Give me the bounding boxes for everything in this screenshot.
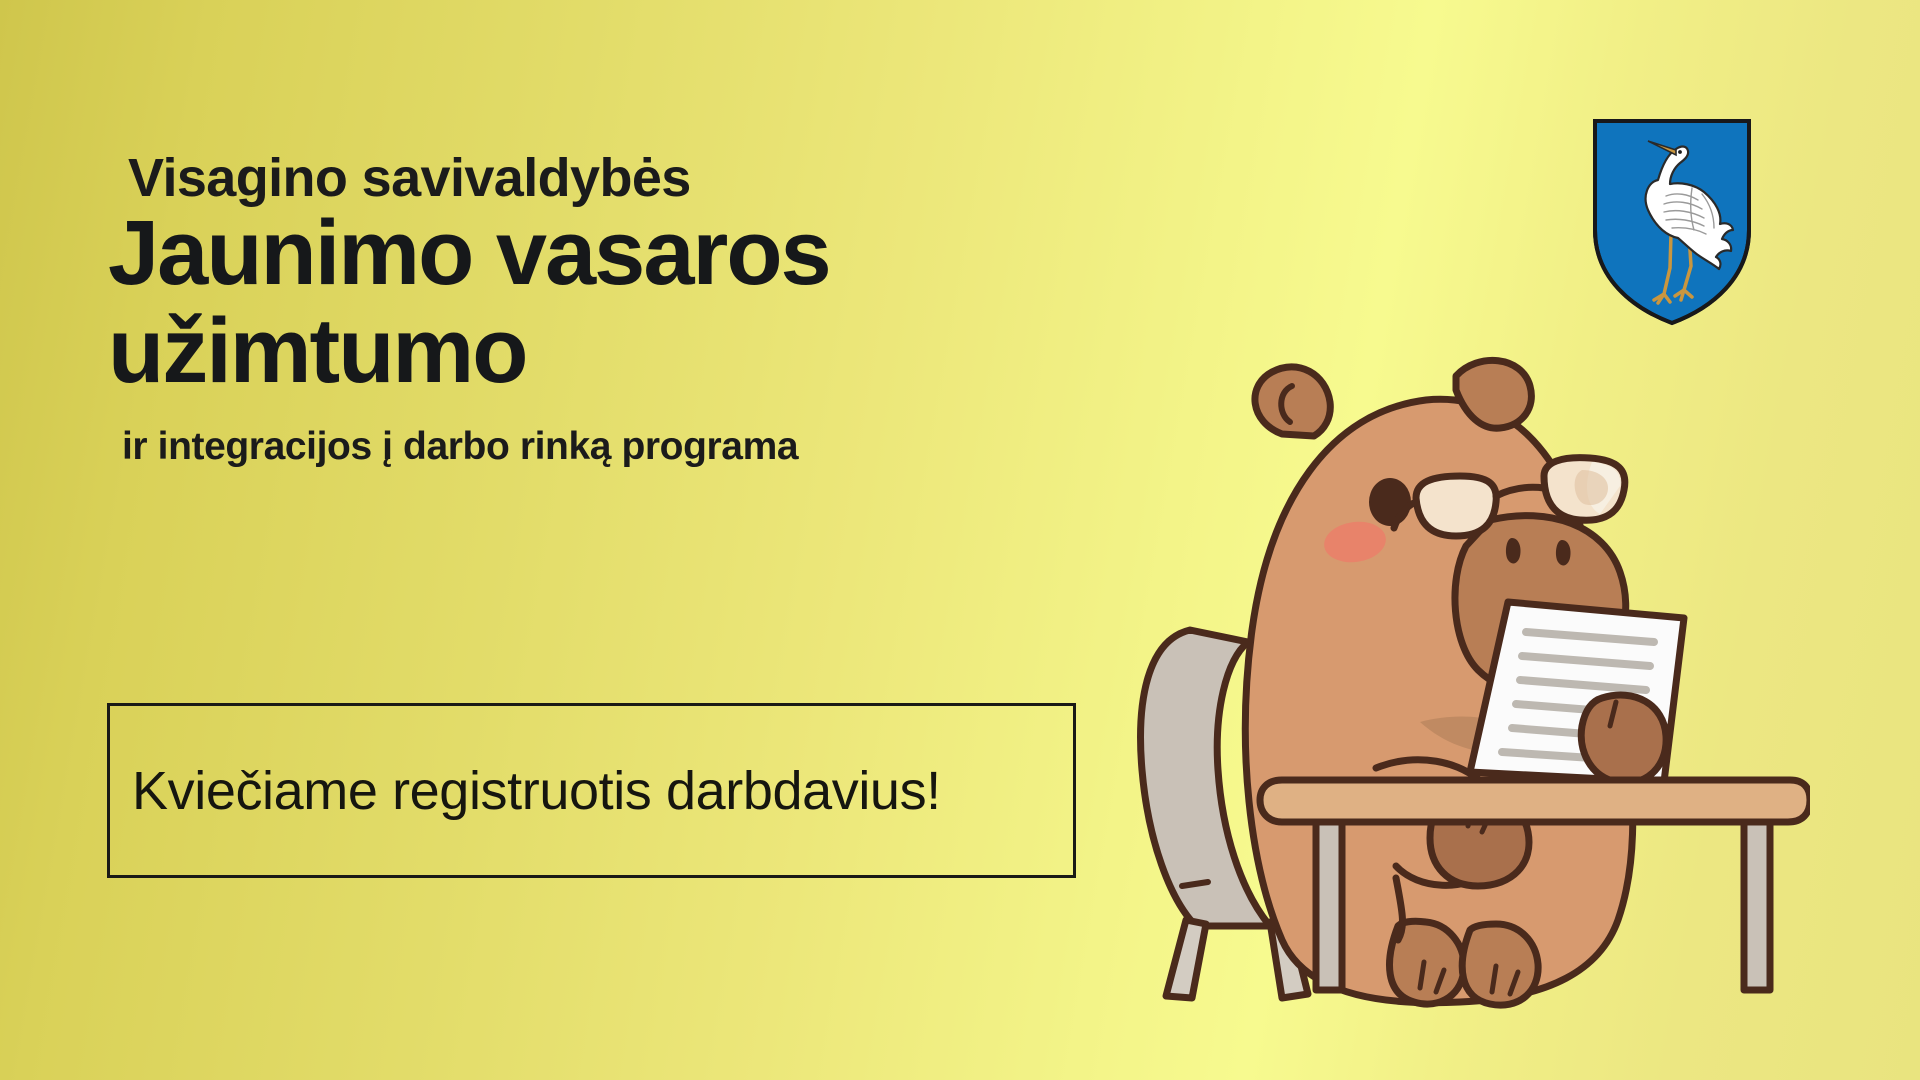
call-to-action-text: Kviečiame registruotis darbdavius!: [132, 760, 941, 822]
call-to-action-box: Kviečiame registruotis darbdavius!: [107, 703, 1076, 878]
tagline-text: ir integracijos į darbo rinką programa: [122, 426, 1168, 469]
poster-canvas: Visagino savivaldybės Jaunimo vasaros už…: [0, 0, 1920, 1080]
capybara-illustration: [1130, 330, 1810, 1010]
headline-line-1: Jaunimo vasaros: [108, 208, 1168, 298]
kicker-text: Visagino savivaldybės: [128, 150, 1168, 206]
headline-line-2: užimtumo: [108, 306, 1168, 396]
headline-block: Visagino savivaldybės Jaunimo vasaros už…: [108, 150, 1168, 469]
coat-of-arms-icon: [1592, 118, 1752, 326]
